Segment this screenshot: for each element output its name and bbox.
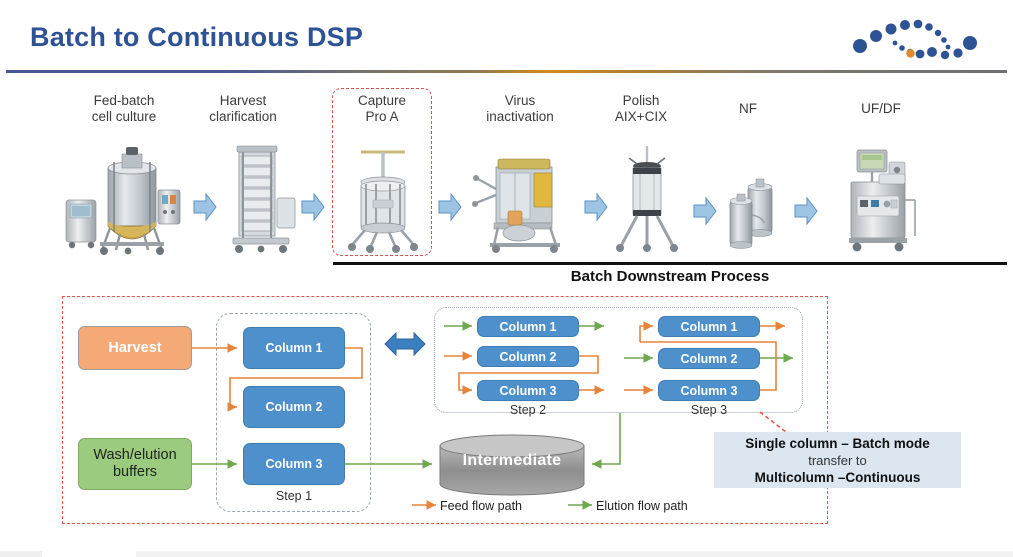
equipment-ufdf-skid bbox=[833, 140, 933, 258]
stage-label-4: Virus inactivation bbox=[459, 93, 581, 125]
equipment-bioreactor bbox=[62, 138, 187, 256]
callout-line2: transfer to bbox=[808, 452, 867, 469]
equipment-depth-filter-skid bbox=[215, 140, 307, 256]
flow-arrow-2 bbox=[300, 192, 326, 222]
stage-label-2: Harvest clarification bbox=[182, 93, 304, 125]
stage-label-5: Polish AIX+CIX bbox=[580, 93, 702, 125]
company-dotted-wave-logo bbox=[848, 12, 988, 64]
flow-arrow-6 bbox=[793, 196, 819, 226]
step2-column-3[interactable]: Column 3 bbox=[477, 380, 579, 401]
equipment-polishing-column bbox=[607, 142, 687, 256]
equipment-protein-a-column bbox=[343, 140, 423, 255]
step2-label: Step 2 bbox=[477, 403, 579, 417]
stage-label-6: NF bbox=[687, 101, 809, 117]
step2-column-1[interactable]: Column 1 bbox=[477, 316, 579, 337]
step3-column-2[interactable]: Column 2 bbox=[658, 348, 760, 369]
flow-arrow-3 bbox=[437, 192, 463, 222]
callout-line3: Multicolumn –Continuous bbox=[755, 469, 921, 486]
wash-label: Wash/elution buffers bbox=[79, 447, 191, 481]
wash-elution-buffers-node[interactable]: Wash/elution buffers bbox=[78, 438, 192, 490]
step3-column-1[interactable]: Column 1 bbox=[658, 316, 760, 337]
step1-label: Step 1 bbox=[243, 489, 345, 503]
stage-label-7: UF/DF bbox=[820, 101, 942, 117]
legend-feed-flow-label: Feed flow path bbox=[440, 499, 522, 513]
bottom-chrome-right bbox=[136, 551, 1013, 557]
header-divider bbox=[6, 70, 1007, 73]
page-title: Batch to Continuous DSP bbox=[30, 22, 363, 53]
callout-line1: Single column – Batch mode bbox=[745, 435, 930, 452]
batch-process-rule bbox=[333, 262, 1007, 265]
step1-column-1[interactable]: Column 1 bbox=[243, 327, 345, 369]
stage-label-1: Fed-batch cell culture bbox=[63, 93, 185, 125]
equipment-virus-inactivation-skid bbox=[464, 145, 579, 255]
flow-arrow-4 bbox=[583, 192, 609, 222]
legend-elution-flow-label: Elution flow path bbox=[596, 499, 688, 513]
batch-downstream-process-label: Batch Downstream Process bbox=[333, 268, 1007, 285]
flow-arrow-1 bbox=[192, 192, 218, 222]
intermediate-label: Intermediate bbox=[438, 452, 586, 470]
step3-column-3[interactable]: Column 3 bbox=[658, 380, 760, 401]
step3-label: Step 3 bbox=[658, 403, 760, 417]
step1-column-2[interactable]: Column 2 bbox=[243, 386, 345, 428]
bidirectional-arrow bbox=[383, 328, 427, 360]
transfer-callout: Single column – Batch mode transfer to M… bbox=[714, 432, 961, 488]
step1-column-3[interactable]: Column 3 bbox=[243, 443, 345, 485]
equipment-nanofilter-housings bbox=[722, 175, 784, 253]
bottom-chrome-left bbox=[0, 551, 42, 557]
harvest-node[interactable]: Harvest bbox=[78, 326, 192, 370]
flow-arrow-5 bbox=[692, 196, 718, 226]
step2-column-2[interactable]: Column 2 bbox=[477, 346, 579, 367]
